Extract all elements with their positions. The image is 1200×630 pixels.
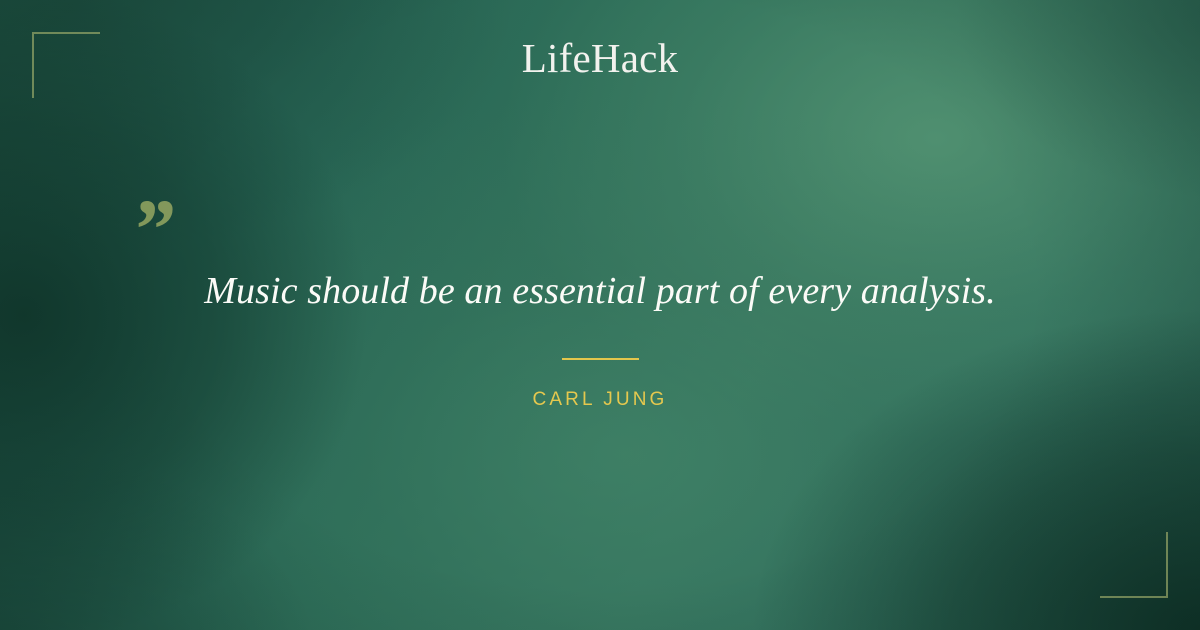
quote-text: Music should be an essential part of eve… <box>100 268 1100 314</box>
quote-card: LifeHack ” Music should be an essential … <box>0 0 1200 630</box>
quotation-mark-icon: ” <box>131 186 174 272</box>
brand-logo: LifeHack <box>0 38 1200 79</box>
author-divider <box>562 358 639 360</box>
corner-bracket-bottom-right-icon <box>1100 532 1168 598</box>
background-vignette <box>0 0 1200 630</box>
quote-author: CARL JUNG <box>0 389 1200 411</box>
